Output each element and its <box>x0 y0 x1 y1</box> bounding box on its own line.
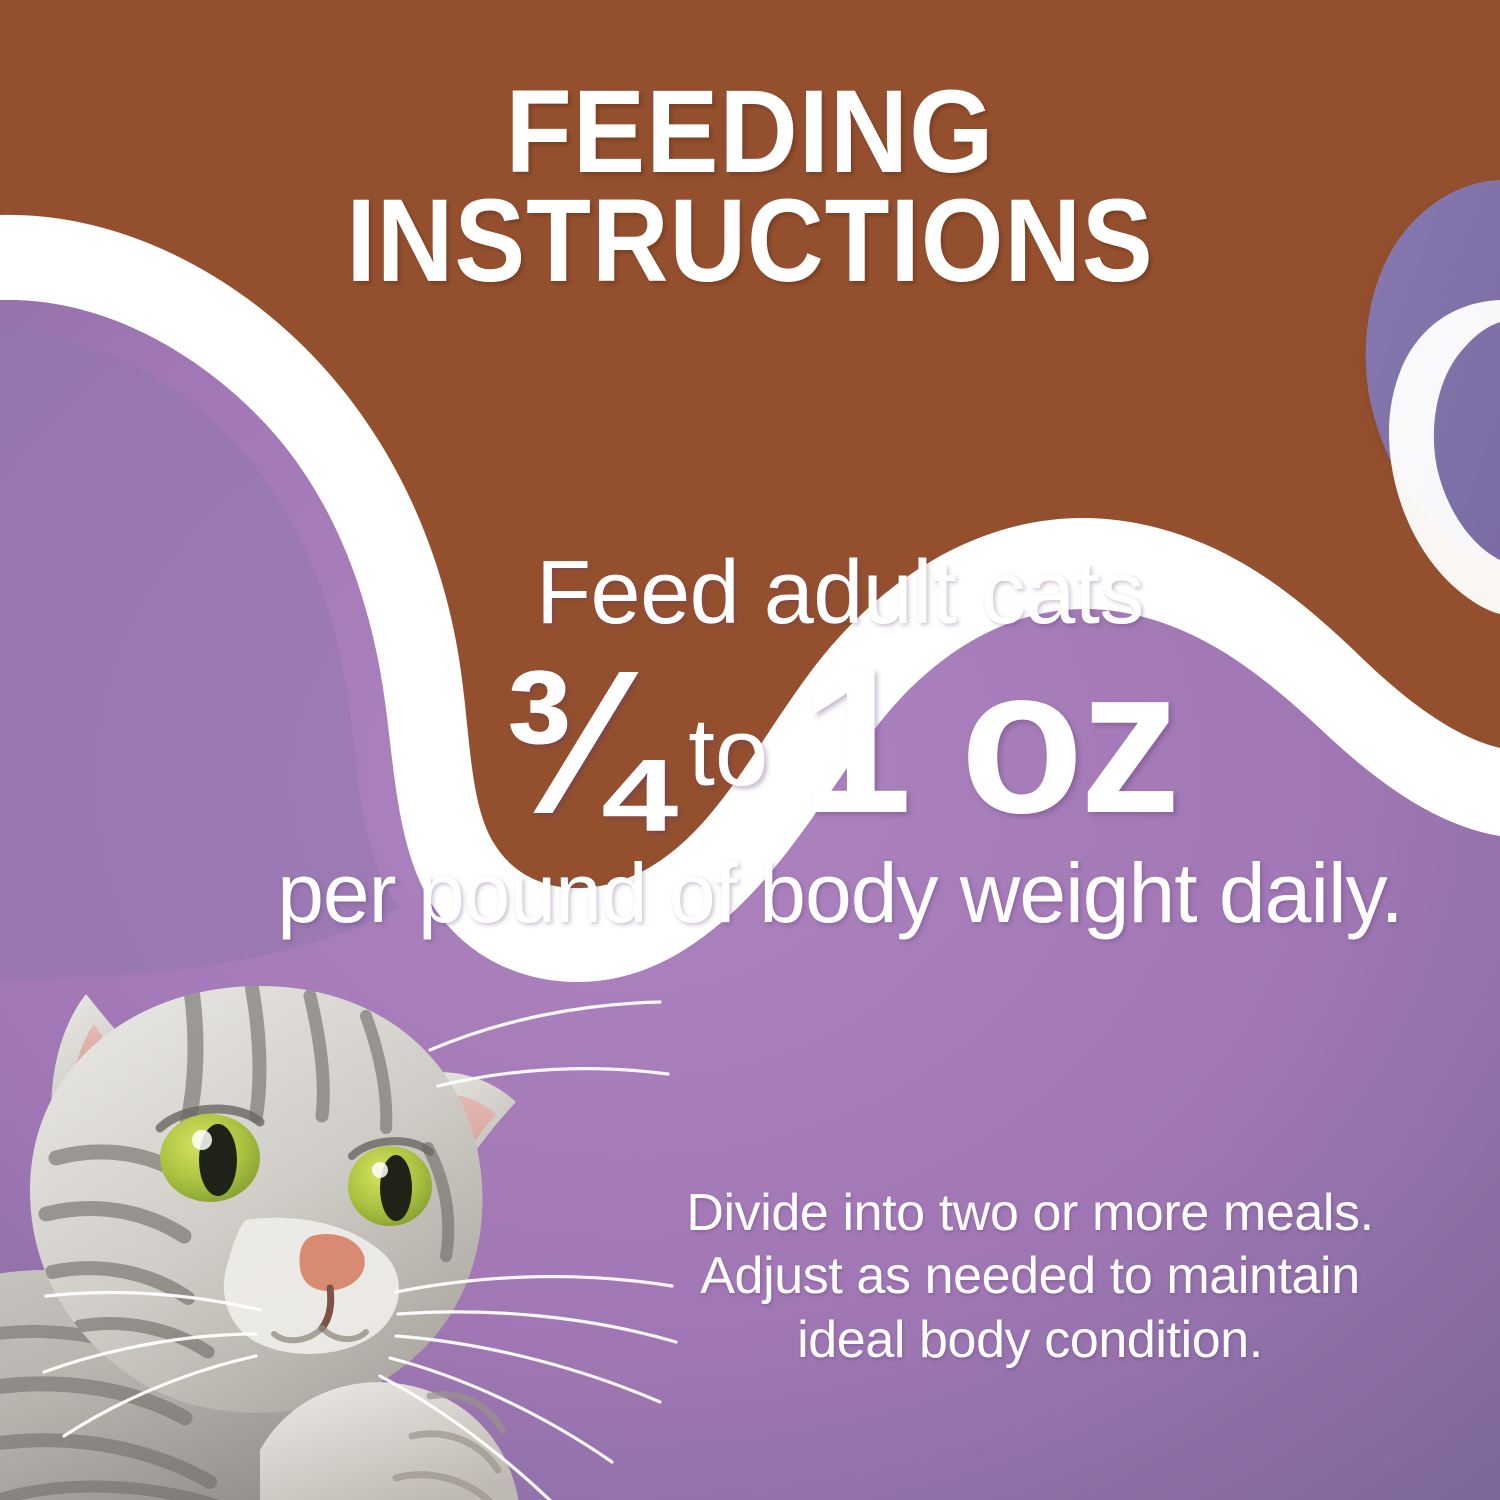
background-waves <box>0 0 1500 1500</box>
feeding-instructions-poster: FEEDING INSTRUCTIONS Feed adult cats ¾ t… <box>0 0 1500 1500</box>
